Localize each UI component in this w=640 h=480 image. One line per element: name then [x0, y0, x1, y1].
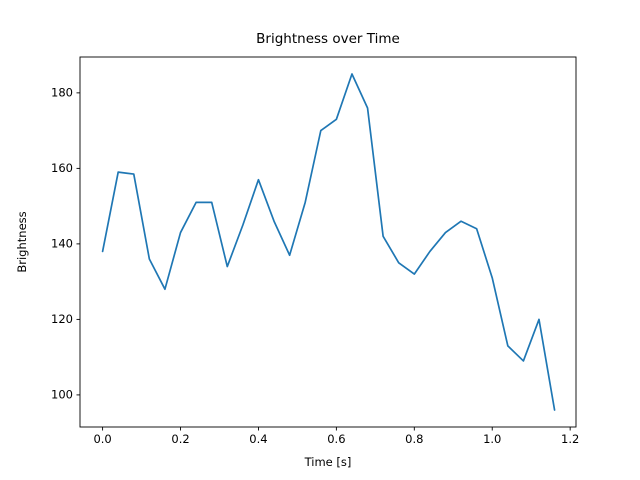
figure-background	[0, 0, 640, 480]
y-tick-label: 180	[51, 85, 73, 99]
x-tick-label: 0.8	[405, 432, 423, 446]
y-axis-label: Brightness	[15, 211, 29, 272]
x-tick-label: 0.0	[93, 432, 111, 446]
y-tick-label: 100	[51, 387, 73, 401]
brightness-line-chart: Brightness over Time 0.00.20.40.60.81.01…	[0, 0, 640, 480]
y-tick-label: 160	[51, 161, 73, 175]
x-axis-label: Time [s]	[304, 455, 352, 469]
y-tick-label: 140	[51, 236, 73, 250]
figure-canvas: Brightness over Time 0.00.20.40.60.81.01…	[0, 0, 640, 480]
y-tick-label: 120	[51, 312, 73, 326]
x-tick-label: 1.0	[483, 432, 501, 446]
x-tick-label: 1.2	[561, 432, 579, 446]
x-tick-label: 0.2	[171, 432, 189, 446]
chart-title: Brightness over Time	[256, 31, 400, 47]
x-tick-label: 0.4	[249, 432, 267, 446]
x-tick-label: 0.6	[327, 432, 345, 446]
